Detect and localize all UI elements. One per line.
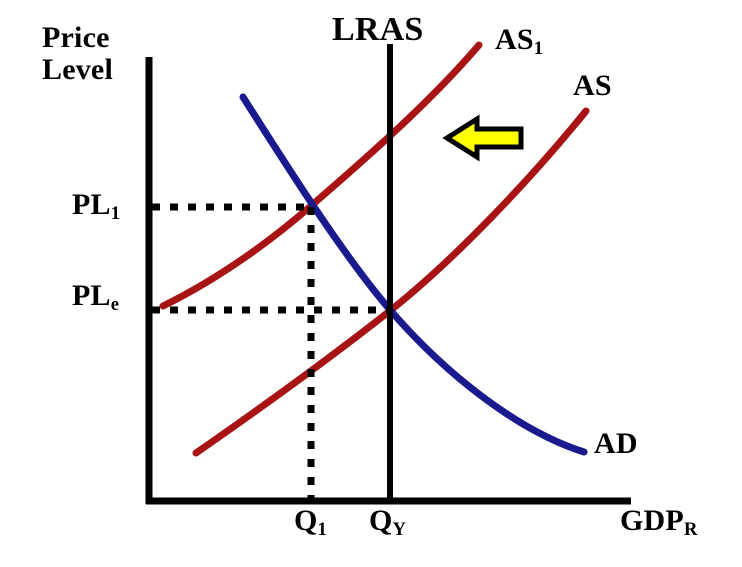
y-axis-title-line1: Price [42,21,110,54]
qy-sub: Y [393,519,407,540]
ad-label-text: AD [594,427,638,460]
as1-label-text: AS [495,23,534,56]
dashed-guides-group [152,207,392,499]
as-label-text: AS [573,69,612,102]
y-axis-title-line2: Level [42,54,113,86]
pl1-sub: 1 [111,203,121,224]
pl1-text: PL [72,188,111,221]
shift-arrow-shape [447,119,521,157]
ad-label: AD [594,428,638,460]
lras-label: LRAS [332,12,424,49]
q1-text: Q [294,504,318,537]
x-axis-title-sub: R [684,519,698,540]
qy-text: Q [369,504,393,537]
leftward-shift-arrow [447,119,521,157]
x-axis-title-text: GDP [620,504,684,537]
as-label: AS [573,70,612,102]
ple-sub: e [111,294,119,315]
x-tick-label-qy: QY [369,505,406,537]
y-axis-title: Price Level [42,22,113,87]
ad-as-diagram: Price Level LRAS AS1 AS AD PL1 PLe Q1 QY… [0,0,742,567]
as1-label: AS1 [495,24,543,56]
y-tick-label-ple: PLe [72,280,119,312]
q1-sub: 1 [318,519,328,540]
x-tick-label-q1: Q1 [294,505,327,537]
as1-curve [163,45,479,306]
ple-text: PL [72,279,111,312]
lras-label-text: LRAS [332,11,424,48]
y-tick-label-pl1: PL1 [72,189,120,221]
x-axis-title: GDPR [620,505,698,537]
ad-curve [243,97,584,452]
as1-label-sub: 1 [534,38,544,59]
